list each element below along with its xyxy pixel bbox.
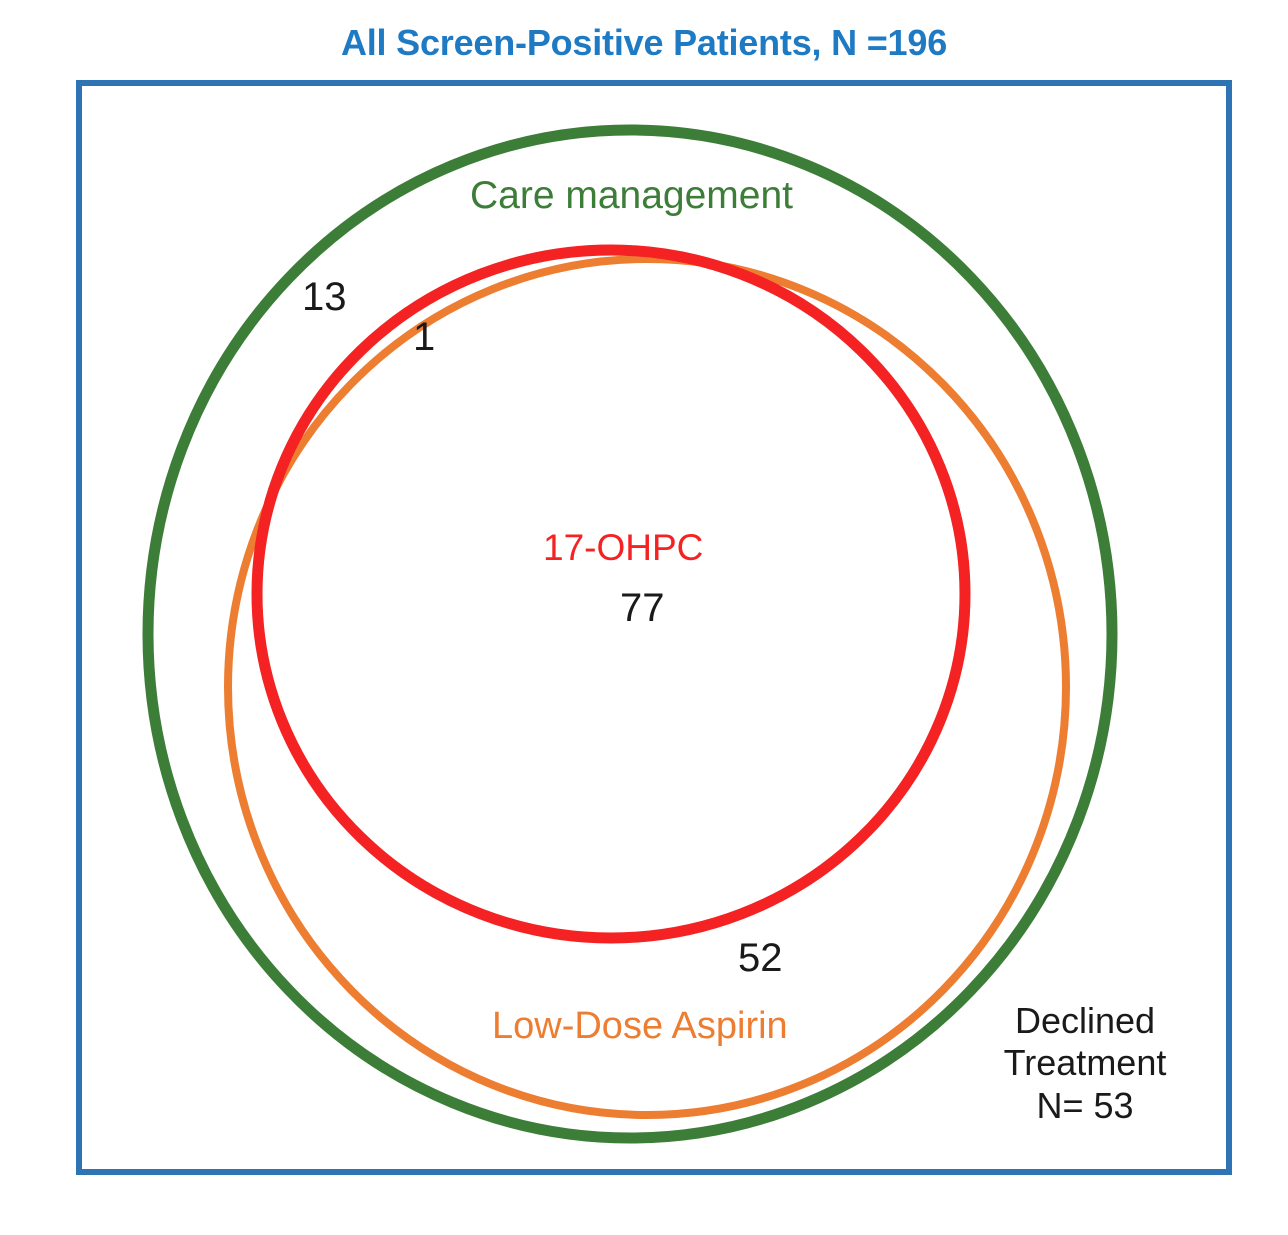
aspirin-not-ohpc-count: 52 <box>738 936 783 981</box>
aspirin-upper-sliver-count: 1 <box>413 315 435 360</box>
declined-line-1: Declined <box>960 1000 1210 1042</box>
ohpc-set-label: 17-OHPC <box>543 527 703 568</box>
care-management-set-label: Care management <box>470 174 793 218</box>
declined-line-3: N= 53 <box>960 1085 1210 1127</box>
declined-line-2: Treatment <box>960 1042 1210 1084</box>
ohpc-count: 77 <box>620 586 665 631</box>
care-management-only-count: 13 <box>302 275 347 320</box>
euler-diagram-page: All Screen-Positive Patients, N =196 Car… <box>0 0 1288 1235</box>
declined-treatment-annotation: Declined Treatment N= 53 <box>960 1000 1210 1127</box>
low-dose-aspirin-set-label: Low-Dose Aspirin <box>492 1005 788 1048</box>
page-title: All Screen-Positive Patients, N =196 <box>0 22 1288 64</box>
